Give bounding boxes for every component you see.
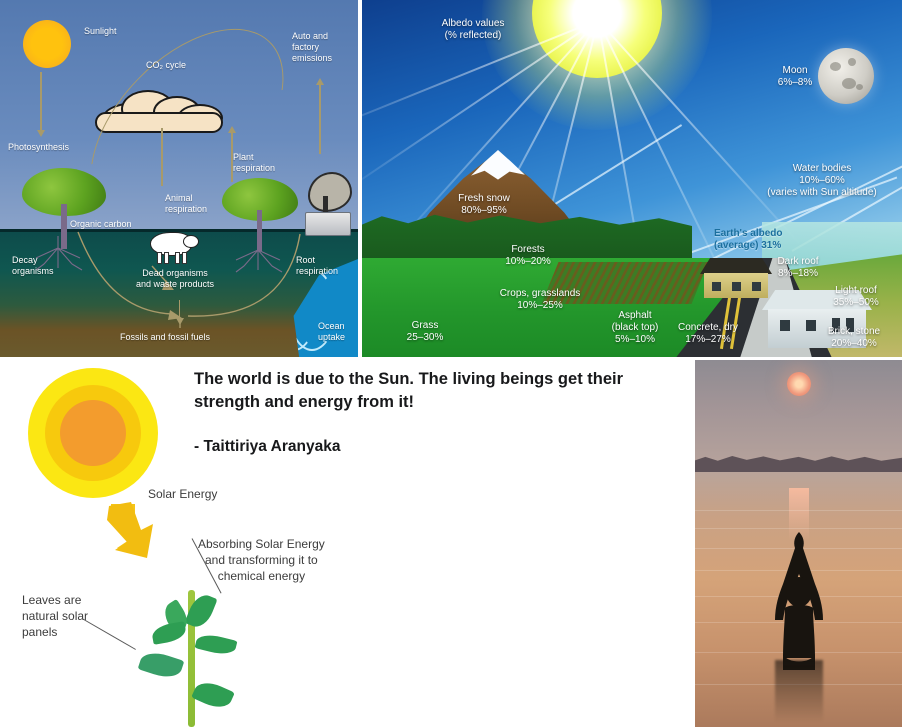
leaf [151,621,188,645]
label-earths-albedo: Earth's albedo (average) 31% [714,228,824,252]
label-grass: Grass 25–30% [390,320,460,344]
sunrise-photo-panel [695,360,902,727]
quote-text: The world is due to the Sun. The living … [194,368,674,414]
label-plant-respiration: Plant respiration [233,152,275,174]
label-dead-organisms: Dead organisms and waste products [136,268,214,290]
leaf [138,648,185,682]
label-animal-respiration: Animal respiration [165,193,207,215]
label-moon: Moon 6%–8% [760,65,830,89]
label-concrete-dry: Concrete, dry 17%–27% [668,322,748,346]
photosynthesis-arrow [40,72,42,134]
fossil-arrow [179,300,180,320]
rising-sun [787,372,811,396]
label-brick-stone: Brick, stone 20%–40% [814,326,894,350]
photosynthesis-panel: The world is due to the Sun. The living … [0,360,694,727]
label-water-bodies: Water bodies 10%–60% (varies with Sun al… [742,163,902,199]
solar-energy-arrow [105,500,171,566]
label-leaves-solar-panels: Leaves are natural solar panels [22,592,88,640]
label-auto-factory-emissions: Auto and factory emissions [292,31,332,64]
sun-core [60,400,126,466]
label-root-respiration: Root respiration [296,255,338,277]
label-organic-carbon: Organic carbon [70,219,132,230]
leaf [195,631,238,657]
person-reflection [775,660,823,722]
photosynthesis-arrowhead [37,130,45,137]
label-co2-cycle: CO₂ cycle [146,60,186,71]
plant-icon [140,590,260,727]
label-decay-organisms: Decay organisms [12,255,54,277]
animal-respiration-arrow [161,128,163,186]
leader-line-leaves [82,618,136,650]
emissions-arrow [319,82,321,154]
label-forests: Forests 10%–20% [485,244,571,268]
sun-icon [23,20,71,68]
label-solar-energy: Solar Energy [148,486,217,502]
emissions-arrowhead [316,78,324,85]
albedo-panel: Albedo values (% reflected) Moon 6%–8% W… [362,0,902,357]
carbon-cycle-panel: Sunlight CO₂ cycle Auto and factory emis… [0,0,358,357]
albedo-header: Albedo values (% reflected) [398,18,548,42]
label-sunlight: Sunlight [84,26,117,37]
label-ocean-uptake: Ocean uptake [318,321,345,343]
plant-respiration-arrowhead [228,126,236,133]
label-fossils: Fossils and fossil fuels [120,332,210,343]
label-photosynthesis: Photosynthesis [8,142,69,153]
label-light-roof: Light roof 35%–50% [820,285,892,309]
label-absorbing-solar-energy: Absorbing Solar Energy and transforming … [198,536,325,584]
label-asphalt: Asphalt (black top) 5%–10% [602,310,668,346]
quote-attribution: - Taittiriya Aranyaka [194,438,340,456]
leaf [191,677,235,713]
person-silhouette [757,528,841,673]
label-dark-roof: Dark roof 8%–18% [764,256,832,280]
label-fresh-snow: Fresh snow 80%–95% [434,193,534,217]
label-crops-grasslands: Crops, grasslands 10%–25% [482,288,598,312]
